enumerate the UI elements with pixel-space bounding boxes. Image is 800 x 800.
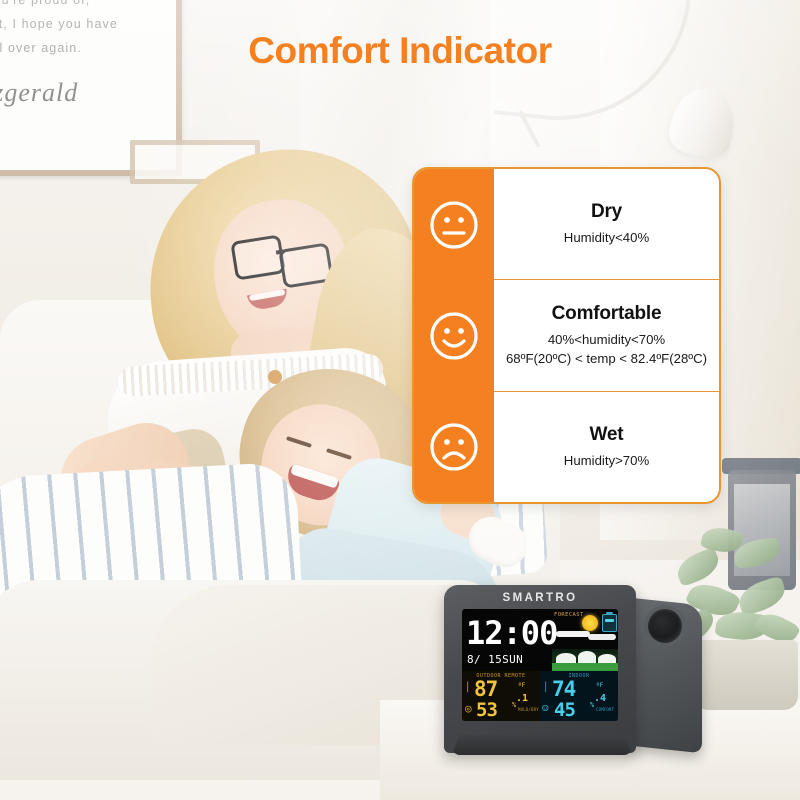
comfort-row-comfortable: Comfortable 40%<humidity<70% 68ºF(20ºC) … (494, 280, 719, 391)
comfort-row-wet: Wet Humidity>70% (494, 392, 719, 502)
cloud-icon-left (556, 631, 590, 637)
comfort-row-title: Wet (590, 424, 624, 446)
comfort-row-line: 40%<humidity<70% (548, 330, 665, 349)
comfort-row-title: Comfortable (552, 303, 662, 325)
indoor-temperature-decimal: .4 (594, 693, 606, 704)
outdoor-thermometer-icon: │ (465, 683, 470, 693)
sunny-icon (582, 615, 598, 631)
comfort-row-line: 68ºF(20ºC) < temp < 82.4ºF(28ºC) (506, 349, 707, 368)
mother-glasses-left (230, 234, 285, 280)
comfort-icon-wet (414, 391, 494, 502)
screenshot-root: e a life you're proud of, ou are not, I … (0, 0, 800, 800)
outdoor-panel: OUTDOOR REMOTE │ 87 .1 ºF ◎ 53 % MOLD/DR… (462, 671, 540, 721)
outdoor-droplet-icon: ◎ (465, 702, 472, 715)
forecast-label: FORECAST (554, 612, 584, 618)
outdoor-comfort-note: MOLD/DRY (518, 707, 539, 712)
comfort-rows: Dry Humidity<40% Comfortable 40%<humidit… (494, 169, 719, 502)
wall-art-signature: ott Fitzgerald (0, 78, 162, 108)
indoor-panel: INDOOR │ 74 .4 ºF ☺ 45 % COMFORT (540, 671, 618, 721)
outdoor-temperature: 87 (474, 679, 497, 700)
device-base (452, 735, 632, 755)
date-display: 8/ 15SUN (467, 653, 557, 666)
indoor-smiley-face-icon: ☺ (542, 702, 549, 715)
cloud-icon-right (588, 634, 616, 640)
device-body: SMARTRO 12:00 8/ 15SUN FORECAST (444, 585, 636, 753)
device-screen: 12:00 8/ 15SUN FORECAST OUTDOOR REMOTE (462, 609, 618, 721)
outdoor-humidity-unit: % (512, 701, 516, 709)
outdoor-humidity: 53 (476, 701, 497, 720)
comfort-row-line: Humidity>70% (564, 451, 649, 470)
comfort-icon-dry (414, 169, 494, 280)
projector-lens-icon (648, 609, 682, 643)
battery-icon (602, 614, 617, 632)
grass-graphic (552, 663, 618, 671)
weather-station-device: SMARTRO 12:00 8/ 15SUN FORECAST (444, 585, 702, 770)
comfort-indicator-card: Dry Humidity<40% Comfortable 40%<humidit… (412, 167, 721, 504)
plant-pot (694, 640, 798, 710)
comfort-row-dry: Dry Humidity<40% (494, 169, 719, 280)
date-value: 8/ 15 (467, 653, 502, 666)
comfort-icon-comfortable (414, 280, 494, 391)
weekday-value: SUN (502, 653, 523, 666)
sad-face-icon (428, 421, 480, 473)
device-brand-logo: SMARTRO (444, 592, 636, 604)
comfort-icon-column (414, 169, 494, 502)
indoor-arrow-icon: │ (543, 683, 548, 693)
clock-display: 12:00 (466, 611, 552, 655)
outdoor-temperature-decimal: .1 (516, 693, 528, 704)
indoor-comfort-note: COMFORT (596, 707, 614, 712)
outdoor-temperature-unit: ºF (518, 682, 525, 689)
indoor-humidity-unit: % (590, 701, 594, 709)
indoor-humidity: 45 (554, 701, 575, 720)
comfort-row-title: Dry (591, 201, 622, 223)
indoor-temperature: 74 (552, 679, 575, 700)
page-title: Comfort Indicator (0, 30, 800, 72)
wall-art-quote-line-1: e a life you're proud of, (0, 0, 166, 12)
neutral-face-icon (428, 199, 480, 251)
indoor-temperature-unit: ºF (596, 682, 603, 689)
smiling-face-icon (428, 310, 480, 362)
comfort-row-line: Humidity<40% (564, 228, 649, 247)
